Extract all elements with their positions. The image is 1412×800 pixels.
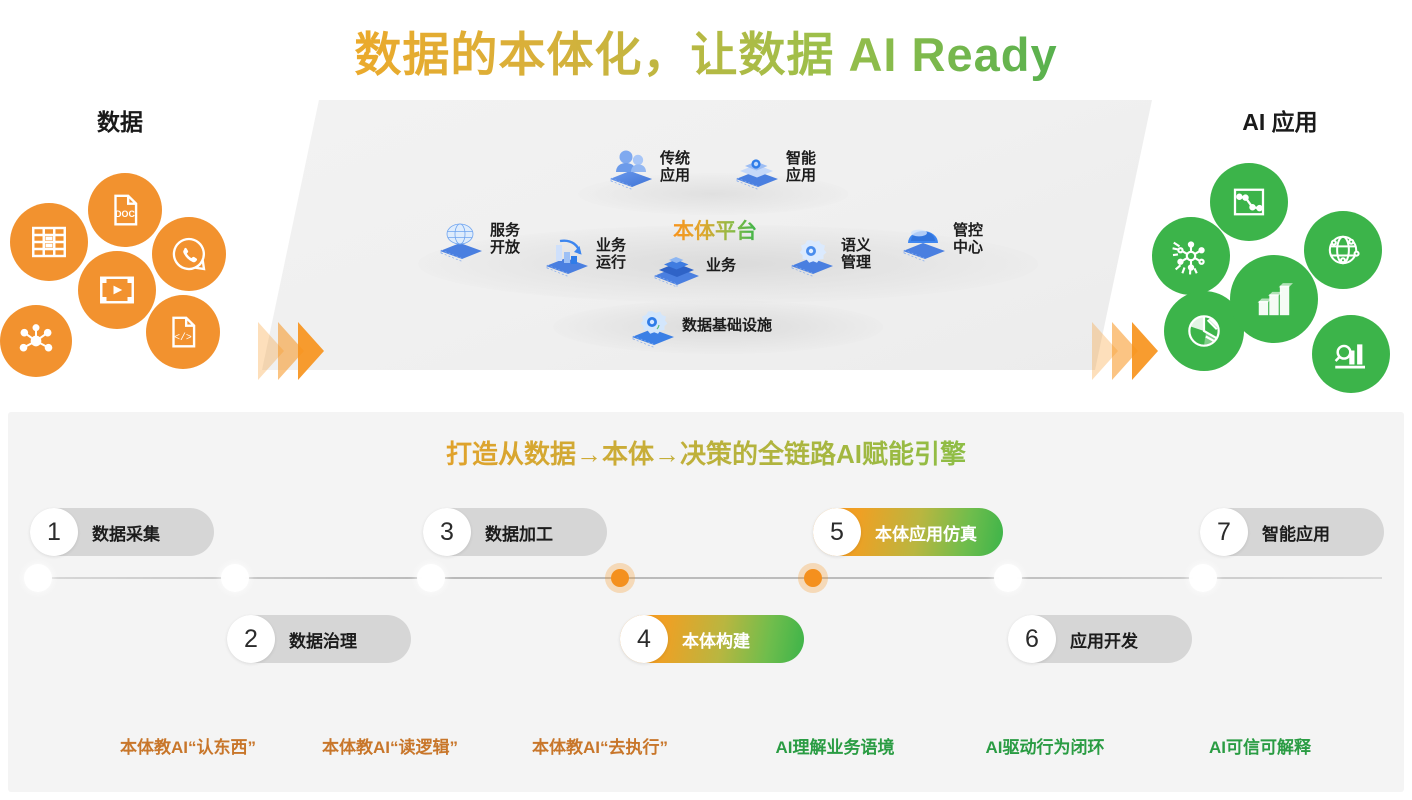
step-number: 2 <box>227 615 275 663</box>
orch-node-label: 传统 应用 <box>660 151 690 185</box>
shield-cube-icon <box>895 217 951 263</box>
roadmap-step-5[interactable]: 5本体应用仿真 <box>813 508 1003 556</box>
step-label: 本体应用仿真 <box>875 520 977 545</box>
step-label: 应用开发 <box>1070 627 1138 652</box>
step-label: 数据加工 <box>485 520 553 545</box>
orch-node-control-center: 管控 中心 <box>895 217 983 263</box>
users-cube-icon <box>602 145 658 191</box>
ai-column-heading: AI 应用 <box>1195 103 1365 137</box>
spreadsheet-table-icon <box>10 203 88 281</box>
benefit-caption: AI理解业务语境 <box>745 733 925 758</box>
step-label: 数据采集 <box>92 520 160 545</box>
infra-cube-icon <box>624 303 680 349</box>
burst-network-icon <box>1152 217 1230 295</box>
ai-cube-icon <box>728 145 784 191</box>
benefit-caption: AI可信可解释 <box>1170 733 1350 758</box>
benefit-caption: 本体教AI“认东西” <box>88 733 288 758</box>
line-chart-icon <box>1210 163 1288 241</box>
svg-text:</>: </> <box>174 332 192 343</box>
roadmap-step-3[interactable]: 3数据加工 <box>423 508 607 556</box>
orch-node-intelligent-app: 智能 应用 <box>728 145 816 191</box>
roadmap-step-4[interactable]: 4本体构建 <box>620 615 804 663</box>
gear-cube-icon <box>783 232 839 278</box>
benefit-caption: 本体教AI“去执行” <box>500 733 700 758</box>
benefit-caption: AI驱动行为闭环 <box>955 733 1135 758</box>
step-number: 1 <box>30 508 78 556</box>
slide-canvas: 数据的本体化，让数据 AI Ready 数据 编排 AI 应用 <box>0 0 1412 800</box>
network-node-icon <box>0 305 72 377</box>
timeline-dot <box>1194 569 1212 587</box>
chart-cube-icon <box>538 232 594 278</box>
step-label: 数据治理 <box>289 627 357 652</box>
globe-network-icon <box>1304 211 1382 289</box>
orch-node-label: 智能 应用 <box>786 151 816 185</box>
timeline-dot <box>226 569 244 587</box>
ai-application-cluster <box>1152 155 1412 395</box>
timeline-dot <box>29 569 47 587</box>
orch-node-semantic-management: 语义 管理 <box>783 232 871 278</box>
roadmap-step-7[interactable]: 7智能应用 <box>1200 508 1384 556</box>
timeline-dot <box>999 569 1017 587</box>
arrow-data-to-orchestration <box>258 317 332 387</box>
platform-title: 本体平台 <box>673 215 757 245</box>
step-number: 4 <box>620 615 668 663</box>
orch-node-business-run: 业务 运行 <box>538 232 626 278</box>
chevron-icon <box>298 322 324 380</box>
orch-node-service-open: 服务 开放 <box>432 217 520 263</box>
timeline-dot <box>611 569 629 587</box>
globe-cube-icon <box>432 217 488 263</box>
orch-node-infrastructure: 数据基础设施 <box>624 303 772 349</box>
timeline-dot <box>804 569 822 587</box>
step-number: 6 <box>1008 615 1056 663</box>
orch-node-label: 业务 <box>706 258 736 275</box>
orch-node-label: 语义 管理 <box>841 238 871 272</box>
data-source-cluster: DOC <box>0 155 260 395</box>
step-number: 5 <box>813 508 861 556</box>
step-label: 智能应用 <box>1262 520 1330 545</box>
page-title: 数据的本体化，让数据 AI Ready <box>0 16 1412 85</box>
orch-node-traditional-app: 传统 应用 <box>602 145 690 191</box>
phone-call-icon <box>152 217 226 291</box>
pipeline-overview: 数据 编排 AI 应用 <box>0 95 1412 395</box>
orch-node-label: 服务 开放 <box>490 223 520 257</box>
analytics-search-icon <box>1312 315 1390 393</box>
orch-node-label: 业务 运行 <box>596 238 626 272</box>
orch-node-label: 管控 中心 <box>953 223 983 257</box>
doc-file-icon: DOC <box>88 173 162 247</box>
step-label: 本体构建 <box>682 627 750 652</box>
roadmap-step-2[interactable]: 2数据治理 <box>227 615 411 663</box>
svg-text:DOC: DOC <box>115 209 135 219</box>
timeline-dot <box>422 569 440 587</box>
orch-node-label: 数据基础设施 <box>682 318 772 335</box>
code-file-icon: </> <box>146 295 220 369</box>
roadmap-step-1[interactable]: 1数据采集 <box>30 508 214 556</box>
step-number: 3 <box>423 508 471 556</box>
roadmap-step-6[interactable]: 6应用开发 <box>1008 615 1192 663</box>
layers-cube-icon <box>648 243 704 289</box>
bar-chart-icon <box>1230 255 1318 343</box>
data-column-heading: 数据 <box>60 103 180 137</box>
video-film-icon <box>78 251 156 329</box>
benefit-caption: 本体教AI“读逻辑” <box>290 733 490 758</box>
orch-node-business: 业务 <box>648 243 736 289</box>
step-number: 7 <box>1200 508 1248 556</box>
roadmap-subtitle: 打造从数据→本体→决策的全链路AI赋能引擎 <box>8 434 1404 471</box>
